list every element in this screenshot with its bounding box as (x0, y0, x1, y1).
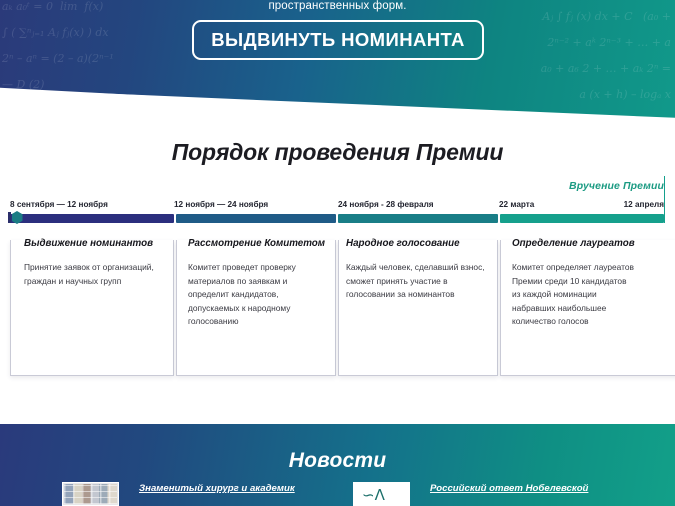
timeline-date-3: 24 ноября - 28 февраля (338, 200, 434, 209)
marker-tick-icon (8, 212, 11, 223)
formula-left-text: aₖ a₀ᵗ = 0 lim f(x) ∫ ( ∑ⁿⱼ₌₁ Aⱼ fⱼ(x) )… (2, 0, 114, 98)
timeline: 8 сентября — 12 ноября 12 ноября — 24 но… (0, 200, 675, 230)
timeline-card-2-title: Рассмотрение Комитетом (188, 238, 325, 249)
timeline-card-1-body: Принятие заявок от организаций, граждан … (24, 261, 159, 288)
news-thumbnail-logo-icon: ∽Λ (353, 482, 410, 506)
timeline-card-2-body: Комитет проведет проверку материалов по … (188, 261, 328, 329)
timeline-date-5: 12 апреля (624, 200, 664, 209)
marker-hexagon-icon (12, 211, 23, 224)
timeline-bar-segment-4[interactable] (500, 214, 664, 223)
news-item-2[interactable]: ∽Λ Российский ответ Нобелевской (353, 482, 588, 506)
brand-logo-glyph-icon: ∽Λ (362, 488, 385, 503)
timeline-bar-segment-1[interactable] (10, 214, 174, 223)
news-item-2-link[interactable]: Российский ответ Нобелевской (430, 482, 588, 496)
timeline-card-3-title: Народное голосование (346, 238, 460, 249)
timeline-card-4-body: Комитет определяет лауреатов Премии сред… (512, 261, 636, 329)
timeline-card-4-title: Определение лауреатов (512, 238, 635, 249)
timeline-date-2: 12 ноября — 24 ноября (174, 200, 268, 209)
page-title: Порядок проведения Премии (0, 139, 675, 166)
news-item-1-link[interactable]: Знаменитый хирург и академик (139, 482, 295, 496)
timeline-bar-segment-2[interactable] (176, 214, 336, 223)
timeline-date-1: 8 сентября — 12 ноября (10, 200, 108, 209)
hero-subtitle: пространственных форм. (0, 0, 675, 12)
timeline-date-4: 22 марта (499, 200, 534, 209)
formula-right-text: x³ ∫ ⁷⁄₃ + ³⁰⁄ₖ + ⁵⁄ₓ² + Aⱼ ∫ fⱼ (x) dx … (541, 0, 671, 108)
timeline-card-1-title: Выдвижение номинантов (24, 238, 153, 249)
timeline-bar-segment-3[interactable] (338, 214, 498, 223)
news-item-1[interactable]: Знаменитый хирург и академик (62, 482, 295, 506)
page-root: aₖ a₀ᵗ = 0 lim f(x) ∫ ( ∑ⁿⱼ₌₁ Aⱼ fⱼ(x) )… (0, 0, 675, 506)
news-section: Новости Знаменитый хирург и академик ∽Λ … (0, 424, 675, 506)
timeline-current-marker (8, 210, 24, 225)
timeline-card-3-body: Каждый человек, сделавший взнос, сможет … (346, 261, 492, 302)
hero-banner: aₖ a₀ᵗ = 0 lim f(x) ∫ ( ∑ⁿⱼ₌₁ Aⱼ fⱼ(x) )… (0, 0, 675, 118)
nominate-button[interactable]: ВЫДВИНУТЬ НОМИНАНТА (192, 20, 484, 60)
news-thumbnail-photo-collage-icon (62, 482, 119, 506)
news-section-title: Новости (0, 449, 675, 473)
hero-diagonal-wedge-secondary (0, 89, 675, 118)
award-ceremony-label: Вручение Премии (569, 180, 664, 192)
